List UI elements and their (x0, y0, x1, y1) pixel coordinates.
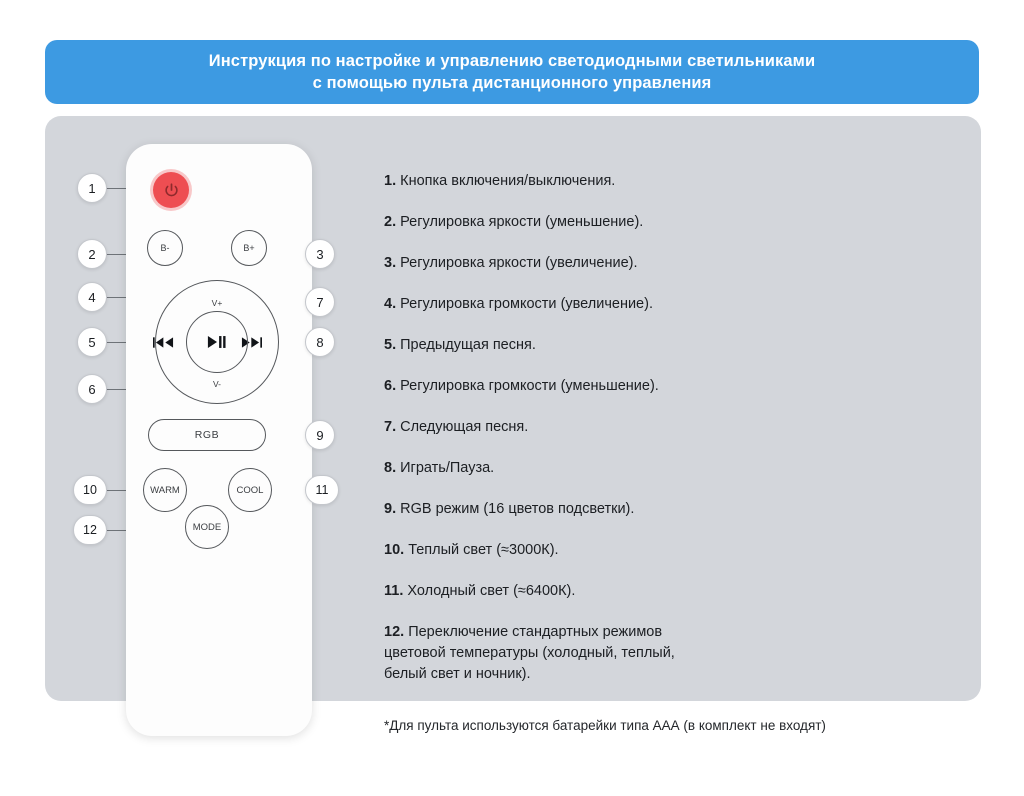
page-title: Инструкция по настройке и управлению све… (209, 50, 815, 94)
warm-label: WARM (150, 485, 180, 496)
instruction-12-text: Переключение стандартных режимов цветово… (384, 624, 675, 682)
instruction-9-text: RGB режим (16 цветов подсветки). (396, 501, 634, 517)
callout-3: 3 (305, 239, 335, 269)
play-pause-icon (206, 335, 228, 349)
rgb-button[interactable]: RGB (148, 419, 266, 451)
instruction-12-number: 12. (384, 624, 404, 640)
instruction-item-4: 4. Регулировка громкости (увеличение). (384, 273, 653, 315)
callout-1-label: 1 (88, 181, 95, 196)
skip-previous-button[interactable] (152, 332, 176, 352)
callout-4: 4 (77, 282, 107, 312)
battery-footnote: *Для пульта используются батарейки типа … (384, 718, 826, 733)
callout-12: 12 (73, 515, 107, 545)
instruction-item-7: 7. Следующая песня. (384, 396, 528, 438)
instruction-6-number: 6. (384, 378, 396, 394)
instruction-2-text: Регулировка яркости (уменьшение). (396, 214, 643, 230)
callout-5-label: 5 (88, 335, 95, 350)
instruction-item-6: 6. Регулировка громкости (уменьшение). (384, 355, 659, 397)
instruction-item-11: 11. Холодный свет (≈6400К). (384, 560, 575, 602)
instruction-10-number: 10. (384, 542, 404, 558)
callout-10-label: 10 (83, 483, 97, 497)
mode-button[interactable]: MODE (185, 505, 229, 549)
mode-label: MODE (193, 522, 222, 533)
callout-11: 11 (305, 475, 339, 505)
callout-7: 7 (305, 287, 335, 317)
instruction-item-9: 9. RGB режим (16 цветов подсветки). (384, 478, 634, 520)
instruction-item-12: 12. Переключение стандартных режимов цве… (384, 601, 675, 685)
skip-previous-icon (153, 336, 175, 349)
callout-8: 8 (305, 327, 335, 357)
callout-8-label: 8 (316, 335, 323, 350)
callout-6-label: 6 (88, 382, 95, 397)
volume-up-label[interactable]: V+ (197, 298, 237, 308)
instruction-11-number: 11. (384, 583, 403, 599)
instruction-2-number: 2. (384, 214, 396, 230)
instruction-1-number: 1. (384, 173, 396, 189)
callout-5: 5 (77, 327, 107, 357)
instruction-10-text: Теплый свет (≈3000К). (404, 542, 558, 558)
instruction-3-text: Регулировка яркости (увеличение). (396, 255, 637, 271)
instruction-4-number: 4. (384, 296, 396, 312)
instruction-item-5: 5. Предыдущая песня. (384, 314, 536, 356)
callout-4-label: 4 (88, 290, 95, 305)
rgb-label: RGB (195, 429, 220, 441)
instruction-7-text: Следующая песня. (396, 419, 528, 435)
callout-2-label: 2 (88, 247, 95, 262)
callout-9: 9 (305, 420, 335, 450)
instruction-4-text: Регулировка громкости (увеличение). (396, 296, 653, 312)
instruction-item-2: 2. Регулировка яркости (уменьшение). (384, 191, 643, 233)
instruction-9-number: 9. (384, 501, 396, 517)
brightness-up-label: B+ (243, 243, 254, 253)
instruction-5-number: 5. (384, 337, 396, 353)
instruction-3-number: 3. (384, 255, 396, 271)
callout-3-label: 3 (316, 247, 323, 262)
power-button[interactable] (153, 172, 189, 208)
play-pause-button[interactable] (186, 311, 248, 373)
header-banner: Инструкция по настройке и управлению све… (45, 40, 979, 104)
callout-6: 6 (77, 374, 107, 404)
instruction-item-1: 1. Кнопка включения/выключения. (384, 150, 615, 192)
callout-10: 10 (73, 475, 107, 505)
instruction-1-text: Кнопка включения/выключения. (396, 173, 615, 189)
cool-label: COOL (237, 485, 264, 496)
callout-1: 1 (77, 173, 107, 203)
instruction-8-text: Играть/Пауза. (396, 460, 494, 476)
instruction-item-8: 8. Играть/Пауза. (384, 437, 494, 479)
brightness-down-label: B- (161, 243, 170, 253)
instruction-8-number: 8. (384, 460, 396, 476)
volume-down-label[interactable]: V- (197, 379, 237, 389)
callout-12-label: 12 (83, 523, 97, 537)
instruction-item-10: 10. Теплый свет (≈3000К). (384, 519, 559, 561)
callout-11-label: 11 (316, 483, 329, 497)
power-icon (163, 182, 180, 199)
instruction-7-number: 7. (384, 419, 396, 435)
instruction-11-text: Холодный свет (≈6400К). (403, 583, 575, 599)
brightness-down-button[interactable]: B- (147, 230, 183, 266)
instruction-item-3: 3. Регулировка яркости (увеличение). (384, 232, 638, 274)
instruction-5-text: Предыдущая песня. (396, 337, 536, 353)
instruction-6-text: Регулировка громкости (уменьшение). (396, 378, 659, 394)
brightness-up-button[interactable]: B+ (231, 230, 267, 266)
callout-7-label: 7 (316, 295, 323, 310)
cool-light-button[interactable]: COOL (228, 468, 272, 512)
callout-9-label: 9 (316, 428, 323, 443)
warm-light-button[interactable]: WARM (143, 468, 187, 512)
callout-2: 2 (77, 239, 107, 269)
